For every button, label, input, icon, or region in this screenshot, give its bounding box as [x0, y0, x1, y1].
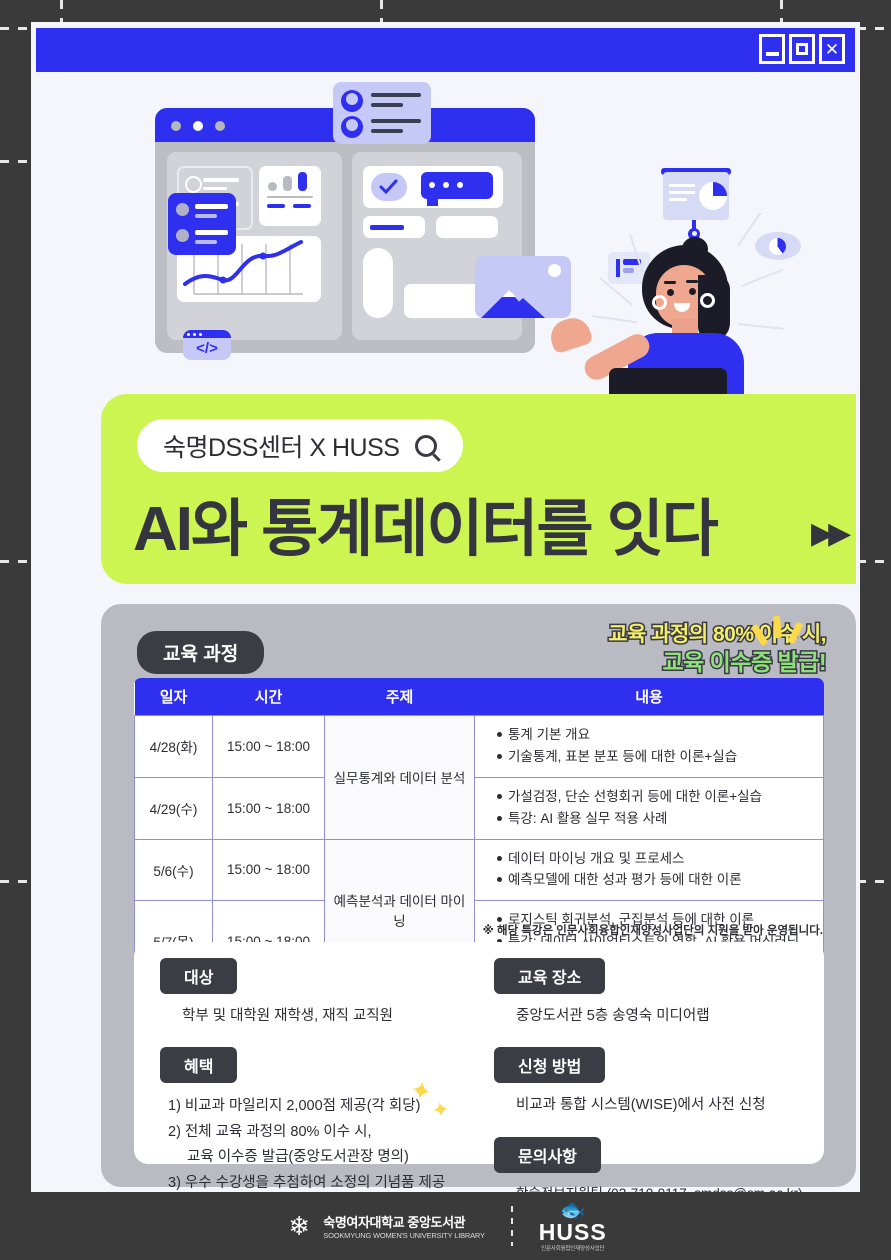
content-item: 특강: AI 활용 실무 적용 사례: [497, 810, 815, 829]
cell-date: 5/6(수): [135, 839, 213, 901]
course-section-tag: 교육 과정: [137, 631, 264, 674]
library-name-en: SOOKMYUNG WOMEN'S UNIVERSITY LIBRARY: [323, 1231, 484, 1240]
certificate-line-2: 교육 이수증 발급!: [608, 648, 826, 676]
library-name-ko: 숙명여자대학교 중앙도서관: [323, 1212, 484, 1231]
window-title-bar: ✕: [36, 28, 855, 72]
certificate-callout: 교육 과정의 80% 이수 시, 교육 이수증 발급!: [608, 622, 826, 676]
content-item: 가설검정, 단순 선형회귀 등에 대한 이론+실습: [497, 788, 815, 807]
huss-logo: 🐟 HUSS 인문사회융합인재양성사업단: [539, 1200, 607, 1252]
contact-text: 학술정보지원팀 (02-710-9117, smdss@sm.ac.kr): [516, 1184, 804, 1192]
footer: ❄ 숙명여자대학교 중앙도서관 SOOKMYUNG WOMEN'S UNIVER…: [0, 1192, 891, 1260]
page-title: AI와 통계데이터를 잇다: [133, 478, 717, 568]
hero-illustration: </>: [31, 72, 860, 397]
poster-canvas: ✕: [31, 22, 860, 1192]
close-icon[interactable]: ✕: [819, 34, 845, 64]
apply-tag: 신청 방법: [494, 1047, 605, 1083]
content-item: 예측모델에 대한 성과 평가 등에 대한 이론: [497, 871, 815, 890]
cell-content: 가설검정, 단순 선형회귀 등에 대한 이론+실습 특강: AI 활용 실무 적…: [475, 777, 824, 839]
search-icon: [415, 435, 437, 457]
content-item: 데이터 마이닝 개요 및 프로세스: [497, 850, 815, 869]
search-pill-label: 숙명DSS센터 X HUSS: [163, 428, 399, 464]
footer-logos: ❄ 숙명여자대학교 중앙도서관 SOOKMYUNG WOMEN'S UNIVER…: [0, 1200, 891, 1252]
minimize-icon[interactable]: [759, 34, 785, 64]
spark-icon: [754, 608, 814, 648]
image-card-graphic: [475, 256, 571, 318]
benefit-tag: 혜택: [160, 1047, 237, 1083]
benefit-item-2a: 2) 전체 교육 과정의 80% 이수 시,: [168, 1120, 490, 1145]
earring-right: [700, 293, 715, 308]
cell-time: 15:00 ~ 18:00: [213, 777, 325, 839]
table-header-row: 일자 시간 주제 내용: [135, 678, 824, 716]
maximize-icon[interactable]: [789, 34, 815, 64]
info-card: 대상 학부 및 대학원 재학생, 재직 교직원 혜택 1) 비교과 마일리지 2…: [134, 942, 824, 1164]
content-item: 기술통계, 표본 분포 등에 대한 이론+실습: [497, 748, 815, 767]
content-item: 통계 기본 개요: [497, 726, 815, 745]
info-column-right: 교육 장소 중앙도서관 5층 송영숙 미디어랩 신청 방법 비교과 통합 시스템…: [494, 958, 804, 1192]
cell-date: 4/28(화): [135, 716, 213, 778]
cell-content: 통계 기본 개요 기술통계, 표본 분포 등에 대한 이론+실습: [475, 716, 824, 778]
pie-chart-icon: [699, 182, 727, 210]
fast-forward-icon: ▶▶: [811, 516, 845, 551]
table-row: 5/6(수) 15:00 ~ 18:00 예측분석과 데이터 마이닝 데이터 마…: [135, 839, 824, 901]
dashboard-window-graphic: </>: [155, 108, 535, 353]
place-tag: 교육 장소: [494, 958, 605, 994]
cell-date: 4/29(수): [135, 777, 213, 839]
apply-text: 비교과 통합 시스템(WISE)에서 사전 신청: [516, 1094, 804, 1116]
cell-topic: 실무통계와 데이터 분석: [325, 716, 475, 840]
col-time: 시간: [213, 678, 325, 716]
table-row: 4/29(수) 15:00 ~ 18:00 가설검정, 단순 선형회귀 등에 대…: [135, 777, 824, 839]
benefit-item-3: 3) 우수 수강생을 추첨하여 소정의 기념품 제공: [168, 1171, 490, 1192]
contacts-card-graphic: [333, 82, 431, 144]
place-text: 중앙도서관 5층 송영숙 미디어랩: [516, 1005, 804, 1027]
contact-tag: 문의사항: [494, 1137, 601, 1173]
earring-left: [652, 295, 667, 310]
window-controls: ✕: [759, 34, 845, 64]
col-date: 일자: [135, 678, 213, 716]
search-pill[interactable]: 숙명DSS센터 X HUSS: [137, 419, 463, 472]
target-tag: 대상: [160, 958, 237, 994]
cell-content: 데이터 마이닝 개요 및 프로세스 예측모델에 대한 성과 평가 등에 대한 이…: [475, 839, 824, 901]
col-topic: 주제: [325, 678, 475, 716]
library-logo: ❄ 숙명여자대학교 중앙도서관 SOOKMYUNG WOMEN'S UNIVER…: [284, 1211, 484, 1241]
cell-time: 15:00 ~ 18:00: [213, 716, 325, 778]
course-panel: 교육 과정 교육 과정의 80% 이수 시, 교육 이수증 발급! 일자 시간 …: [101, 604, 856, 1187]
check-icon: [379, 179, 399, 195]
crest-icon: ❄: [284, 1211, 314, 1241]
blue-list-card-graphic: [168, 193, 236, 255]
fish-icon: 🐟: [539, 1200, 607, 1221]
star-icon: ✦: [430, 1097, 451, 1124]
footnote: ※ 해당 특강은 인문사회융합인재양성사업단의 지원을 받아 운영됩니다.: [483, 922, 823, 938]
huss-title: HUSS: [539, 1221, 607, 1244]
huss-subtitle: 인문사회융합인재양성사업단: [539, 1244, 607, 1252]
info-column-left: 대상 학부 및 대학원 재학생, 재직 교직원 혜택 1) 비교과 마일리지 2…: [160, 958, 490, 1192]
table-row: 4/28(화) 15:00 ~ 18:00 실무통계와 데이터 분석 통계 기본…: [135, 716, 824, 778]
code-card-graphic: </>: [183, 330, 231, 360]
col-content: 내용: [475, 678, 824, 716]
hero-banner: 숙명DSS센터 X HUSS AI와 통계데이터를 잇다 ▶▶: [101, 394, 856, 584]
cell-time: 15:00 ~ 18:00: [213, 839, 325, 901]
footer-divider: [511, 1206, 513, 1246]
eye-pupil: [769, 238, 786, 255]
target-text: 학부 및 대학원 재학생, 재직 교직원: [182, 1005, 490, 1027]
benefit-item-2b: 교육 이수증 발급(중앙도서관장 명의): [187, 1145, 490, 1170]
